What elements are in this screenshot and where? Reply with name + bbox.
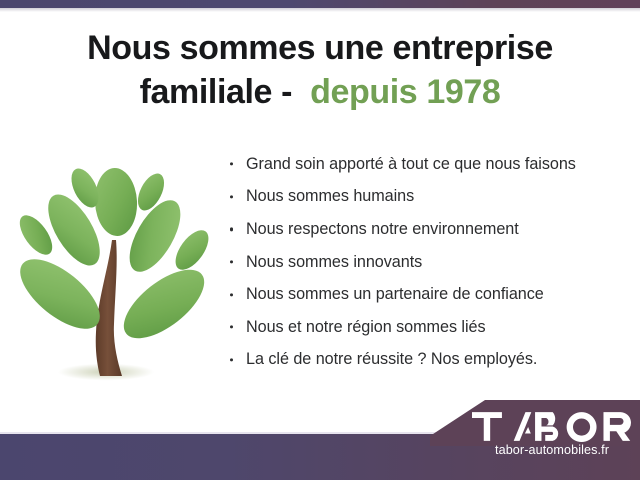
page-title: Nous sommes une entreprise familiale - d… xyxy=(40,26,600,114)
page-title-line-2-black: familiale - xyxy=(140,73,311,111)
brand-url-label: tabor-automobiles.fr xyxy=(472,443,632,457)
bullet-point-icon xyxy=(230,228,233,231)
bullet-point-icon xyxy=(230,163,233,166)
slide-root: Nous sommes une entreprise familiale - d… xyxy=(0,0,640,480)
page-title-highlight: depuis 1978 xyxy=(310,73,500,111)
tree-leaf xyxy=(93,167,139,237)
list-item: Nous et notre région sommes liés xyxy=(228,311,628,344)
bullet-point-icon xyxy=(230,326,233,329)
list-item-label: Grand soin apporté à tout ce que nous fa… xyxy=(246,155,576,174)
list-item-label: Nous sommes un partenaire de confiance xyxy=(246,285,544,304)
bullet-point-icon xyxy=(230,260,233,263)
value-list: Grand soin apporté à tout ce que nous fa… xyxy=(228,148,628,376)
list-item-label: Nous sommes humains xyxy=(246,187,414,206)
bullet-point-icon xyxy=(230,358,233,361)
list-item-label: Nous et notre région sommes liés xyxy=(246,318,486,337)
bullet-point-icon xyxy=(230,293,233,296)
list-item-label: Nous respectons notre environnement xyxy=(246,220,519,239)
bullet-point-icon xyxy=(230,195,233,198)
list-item: Nous sommes humains xyxy=(228,181,628,214)
top-accent-bar xyxy=(0,0,640,8)
tree-trunk xyxy=(96,240,122,376)
tree-leaf xyxy=(113,257,216,351)
list-item: Nous sommes un partenaire de confiance xyxy=(228,278,628,311)
page-title-line-2: familiale - depuis 1978 xyxy=(40,70,600,114)
brand-logo[interactable]: tabor-automobiles.fr xyxy=(472,411,632,457)
page-title-line-1: Nous sommes une entreprise xyxy=(40,26,600,70)
list-item-label: La clé de notre réussite ? Nos employés. xyxy=(246,350,537,369)
top-accent-bar-shadow xyxy=(0,8,640,12)
tree-illustration xyxy=(12,152,220,400)
list-item: Nous respectons notre environnement xyxy=(228,213,628,246)
tabor-wordmark-icon xyxy=(472,411,632,442)
list-item-label: Nous sommes innovants xyxy=(246,253,422,272)
list-item: Grand soin apporté à tout ce que nous fa… xyxy=(228,148,628,181)
list-item: La clé de notre réussite ? Nos employés. xyxy=(228,344,628,377)
list-item: Nous sommes innovants xyxy=(228,246,628,279)
